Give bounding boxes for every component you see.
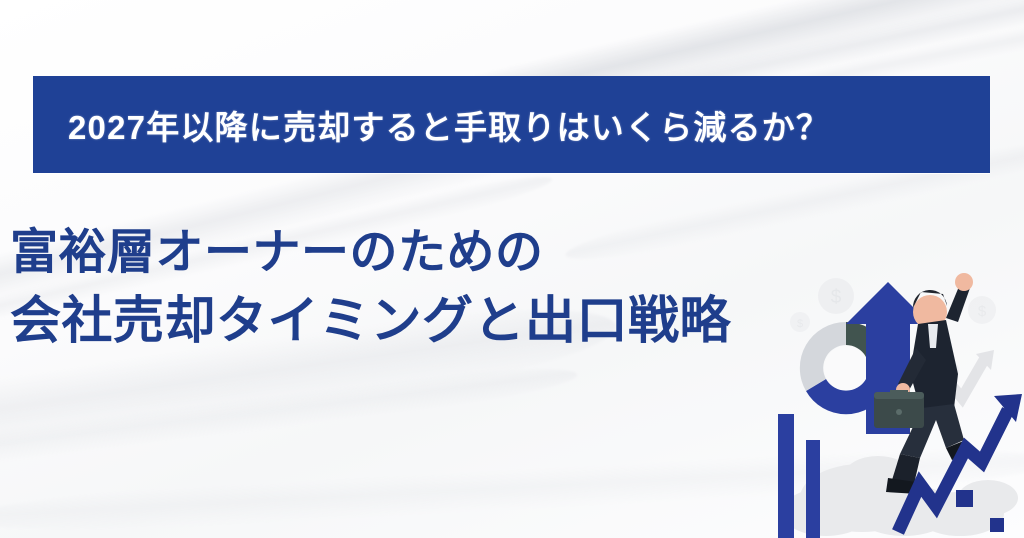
page-title: 富裕層オーナーのための 会社売却タイミングと出口戦略	[10, 222, 731, 355]
svg-text:$: $	[978, 303, 987, 320]
hero-illustration: $ $ $	[770, 262, 1024, 538]
briefcase-icon	[874, 390, 924, 428]
svg-text:$: $	[831, 287, 842, 308]
subtitle-banner: 2027年以降に売却すると手取りはいくら減るか？	[33, 76, 990, 173]
page-title-line-2: 会社売却タイミングと出口戦略	[10, 288, 731, 354]
svg-text:$: $	[797, 318, 803, 330]
page-title-line-1: 富裕層オーナーのための	[10, 222, 731, 284]
banner-text: 2027年以降に売却すると手取りはいくら減るか？	[33, 101, 830, 149]
